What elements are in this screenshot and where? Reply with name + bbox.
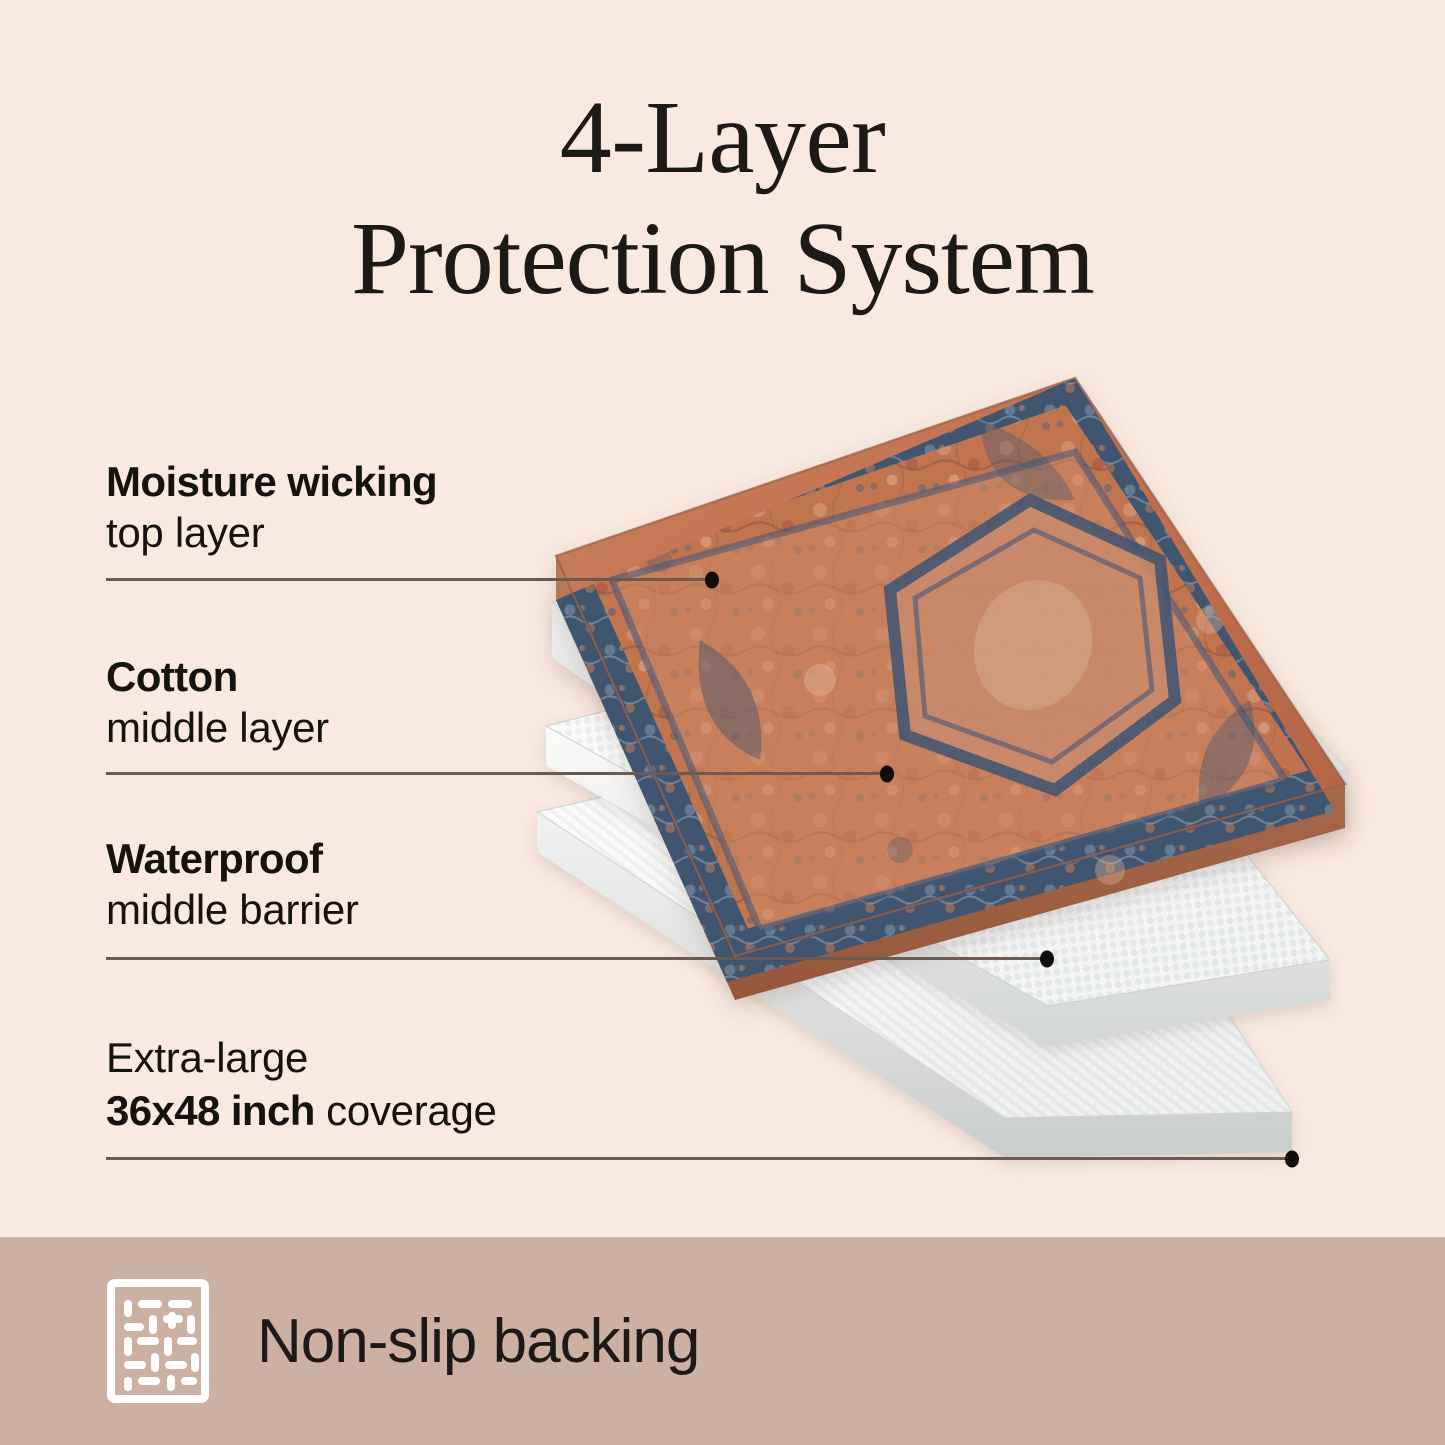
non-slip-banner: Non-slip backing	[0, 1237, 1445, 1445]
callout-1-subtext: top layer	[106, 507, 437, 558]
leader-line-4	[106, 1157, 1292, 1160]
callout-waterproof: Waterproof middle barrier	[106, 835, 359, 935]
callout-2-heading: Cotton	[106, 653, 329, 700]
leader-line-2	[106, 772, 887, 775]
callout-4-subtext: 36x48 inch coverage	[106, 1085, 497, 1136]
leader-dot-4	[1285, 1150, 1299, 1167]
layer-3-waterproof-barrier	[546, 600, 1330, 1046]
layer-4-non-slip-backing	[537, 700, 1292, 1158]
title-line-1: 4-Layer	[0, 78, 1445, 199]
page-title: 4-Layer Protection System	[0, 78, 1445, 319]
callout-4-coverage-word: coverage	[315, 1087, 497, 1134]
leader-line-3	[106, 957, 1047, 960]
leader-line-1	[106, 578, 712, 581]
callout-4-dimensions: 36x48 inch	[106, 1087, 315, 1134]
layer-1-moisture-wicking-top	[556, 378, 1345, 1000]
callout-4-heading: Extra-large	[106, 1032, 497, 1083]
callout-moisture-wicking: Moisture wicking top layer	[106, 458, 437, 558]
title-line-2: Protection System	[0, 199, 1445, 320]
callout-1-heading: Moisture wicking	[106, 458, 437, 505]
callout-3-heading: Waterproof	[106, 835, 359, 882]
layer-2-cotton-middle	[552, 452, 1348, 890]
callout-3-subtext: middle barrier	[106, 884, 359, 935]
non-slip-weave-icon	[107, 1279, 209, 1403]
callout-2-subtext: middle layer	[106, 702, 329, 753]
leader-dot-2	[880, 765, 894, 782]
leader-dot-1	[705, 571, 719, 588]
product-infographic: 4-Layer Protection System	[0, 0, 1445, 1445]
non-slip-banner-label: Non-slip backing	[257, 1306, 699, 1377]
callout-extra-large-coverage: Extra-large 36x48 inch coverage	[106, 1030, 497, 1136]
callout-cotton: Cotton middle layer	[106, 653, 329, 753]
leader-dot-3	[1040, 950, 1054, 967]
